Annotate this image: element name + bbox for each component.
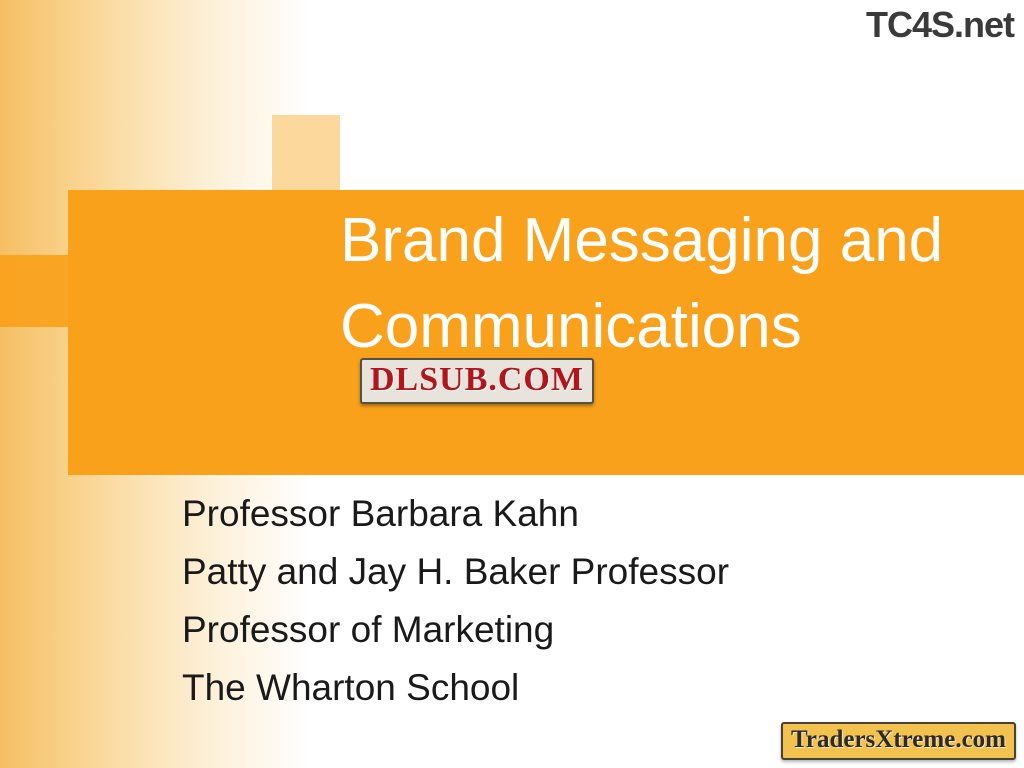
watermark-top-right: TC4S.net xyxy=(866,4,1014,46)
subtitle-line-1: Professor Barbara Kahn xyxy=(182,485,982,543)
subtitle-line-4: The Wharton School xyxy=(182,659,982,717)
slide-canvas: Brand Messaging and Communications DLSUB… xyxy=(0,0,1024,768)
subtitle-line-3: Professor of Marketing xyxy=(182,601,982,659)
title-container: Brand Messaging and Communications xyxy=(340,198,960,370)
subtitle-line-2: Patty and Jay H. Baker Professor xyxy=(182,543,982,601)
mosaic-square xyxy=(272,115,340,190)
mosaic-square xyxy=(0,255,68,327)
slide-title: Brand Messaging and Communications xyxy=(340,198,960,370)
watermark-center: DLSUB.COM xyxy=(360,358,594,404)
watermark-bottom-right: TradersXtreme.com xyxy=(781,722,1016,760)
subtitle-container: Professor Barbara Kahn Patty and Jay H. … xyxy=(182,485,982,717)
